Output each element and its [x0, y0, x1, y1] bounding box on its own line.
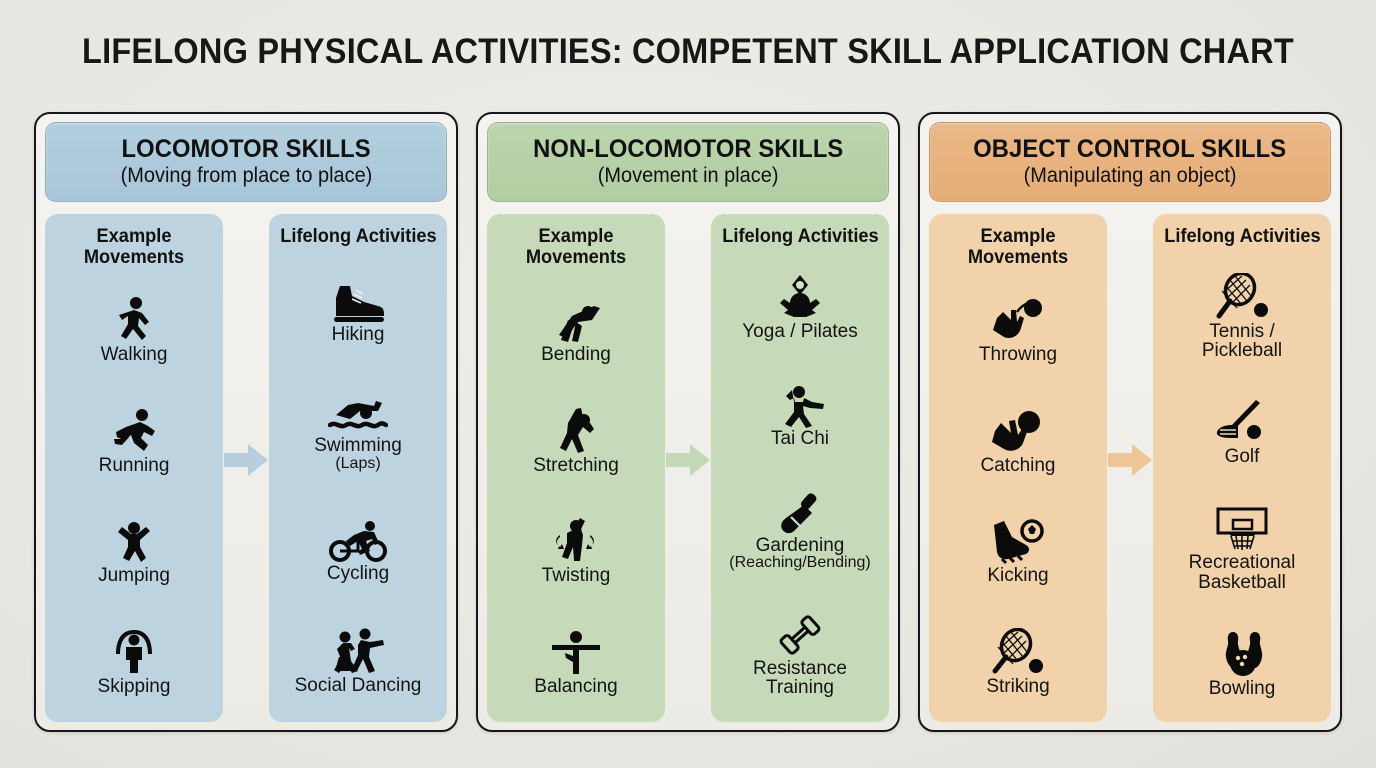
items-list: Walking Running Jumping: [49, 275, 219, 716]
kicking-foot-soccerball-icon: [988, 515, 1048, 565]
list-item-label: Running: [99, 456, 170, 476]
column-title: Lifelong Activities: [280, 226, 436, 247]
list-item-label: Stretching: [533, 456, 619, 476]
list-item-label: Social Dancing: [295, 676, 422, 696]
jump-rope-person-icon: [110, 626, 158, 676]
list-item-label: Balancing: [534, 677, 617, 697]
list-item: Bowling: [1157, 628, 1327, 699]
list-item-label: Yoga / Pilates: [742, 322, 858, 342]
list-item-label: Hiking: [332, 325, 385, 345]
list-item: Recreational Basketball: [1157, 502, 1327, 592]
list-item-label: Striking: [986, 677, 1049, 697]
balancing-person-icon: [548, 626, 604, 676]
chart-root: LIFELONG PHYSICAL ACTIVITIES: COMPETENT …: [0, 0, 1376, 768]
column-lifelong-activities: Lifelong Activities Tennis / Pickleball: [1153, 214, 1331, 722]
running-person-icon: [110, 405, 158, 455]
list-item: Tai Chi: [715, 378, 885, 449]
basketball-hoop-icon: [1211, 502, 1273, 552]
list-item-label: Jumping: [98, 566, 170, 586]
twisting-person-icon: [550, 515, 602, 565]
list-item: Bending: [491, 294, 661, 365]
bowling-ball-pins-icon: [1211, 628, 1273, 678]
column-example-movements: Example Movements Walking: [45, 214, 223, 722]
tai-chi-person-icon: [772, 378, 828, 428]
panel-header-object-control: OBJECT CONTROL SKILLS (Manipulating an o…: [929, 122, 1331, 202]
list-item: Catching: [933, 405, 1103, 476]
items-list: Bending Stretching Twist: [491, 275, 661, 716]
list-item: Cycling: [273, 513, 443, 584]
tennis-racket-icon: [1212, 271, 1272, 321]
list-item: Stretching: [491, 405, 661, 476]
column-title: Example Movements: [936, 226, 1099, 269]
column-lifelong-activities: Lifelong Activities Yoga / Pilates: [711, 214, 889, 722]
panels-row: LOCOMOTOR SKILLS (Moving from place to p…: [34, 112, 1342, 734]
list-item-label: Cycling: [327, 564, 389, 584]
list-item: Tennis / Pickleball: [1157, 271, 1327, 361]
list-item-sublabel: (Reaching/Bending): [729, 555, 870, 571]
dumbbell-icon: [775, 608, 825, 658]
list-item-label: Bending: [541, 345, 611, 365]
list-item: Skipping: [49, 626, 219, 697]
golf-club-ball-icon: [1212, 396, 1272, 446]
lotus-yoga-icon: [774, 271, 826, 321]
list-item: Throwing: [933, 294, 1103, 365]
column-title: Lifelong Activities: [1164, 226, 1320, 247]
list-item: Walking: [49, 294, 219, 365]
panel-non-locomotor: NON-LOCOMOTOR SKILLS (Movement in place)…: [476, 112, 900, 732]
list-item: Striking: [933, 626, 1103, 697]
list-item: Yoga / Pilates: [715, 271, 885, 342]
column-example-movements: Example Movements Throwing: [929, 214, 1107, 722]
column-title: Lifelong Activities: [722, 226, 878, 247]
stretching-person-icon: [550, 405, 602, 455]
column-lifelong-activities: Lifelong Activities Hiking: [269, 214, 447, 722]
list-item: Balancing: [491, 626, 661, 697]
panel-subtitle: (Movement in place): [598, 165, 779, 188]
list-item: Golf: [1157, 396, 1327, 467]
list-item-label: Throwing: [979, 345, 1057, 365]
jumping-person-icon: [110, 515, 158, 565]
list-item: Running: [49, 405, 219, 476]
list-item: Twisting: [491, 515, 661, 586]
list-item-label: Skipping: [98, 677, 171, 697]
list-item-label: Tai Chi: [771, 429, 829, 449]
panel-title: OBJECT CONTROL SKILLS: [974, 136, 1287, 163]
columns-non-locomotor: Example Movements Bending: [487, 214, 889, 722]
panel-title: NON-LOCOMOTOR SKILLS: [533, 136, 843, 163]
list-item-sublabel: (Laps): [314, 456, 402, 472]
panel-locomotor: LOCOMOTOR SKILLS (Moving from place to p…: [34, 112, 458, 732]
items-list: Throwing Catching Kickin: [933, 275, 1103, 716]
list-item-label: Bowling: [1209, 679, 1276, 699]
dancing-couple-icon: [325, 625, 391, 675]
columns-object-control: Example Movements Throwing: [929, 214, 1331, 722]
garden-trowel-icon: [774, 485, 826, 535]
list-item-label: Resistance Training: [753, 659, 847, 698]
column-title: Example Movements: [494, 226, 657, 269]
panel-subtitle: (Moving from place to place): [120, 165, 372, 188]
throwing-hand-ball-icon: [989, 294, 1047, 344]
list-item: Resistance Training: [715, 608, 885, 698]
bending-person-icon: [548, 294, 604, 344]
panel-subtitle: (Manipulating an object): [1024, 165, 1237, 188]
list-item: Social Dancing: [273, 625, 443, 696]
racket-ball-icon: [989, 626, 1047, 676]
panel-header-non-locomotor: NON-LOCOMOTOR SKILLS (Movement in place): [487, 122, 889, 202]
list-item: Gardening(Reaching/Bending): [715, 485, 885, 572]
list-item-label: Swimming(Laps): [314, 436, 402, 472]
list-item: Swimming(Laps): [273, 385, 443, 472]
columns-locomotor: Example Movements Walking: [45, 214, 447, 722]
hiking-boot-icon: [330, 274, 386, 324]
list-item-label: Walking: [101, 345, 168, 365]
panel-object-control: OBJECT CONTROL SKILLS (Manipulating an o…: [918, 112, 1342, 732]
right-arrow-icon: [666, 442, 710, 478]
list-item-label: Kicking: [987, 566, 1048, 586]
list-item-label: Recreational Basketball: [1189, 553, 1296, 592]
right-arrow-icon: [224, 442, 268, 478]
bicycle-icon: [328, 513, 388, 563]
list-item-label: Catching: [981, 456, 1056, 476]
right-arrow-icon: [1108, 442, 1152, 478]
list-item-label: Twisting: [542, 566, 611, 586]
items-list: Yoga / Pilates Tai Chi G: [715, 253, 885, 716]
list-item: Jumping: [49, 515, 219, 586]
list-item-label: Gardening(Reaching/Bending): [729, 536, 870, 572]
panel-title: LOCOMOTOR SKILLS: [121, 136, 370, 163]
catching-hand-ball-icon: [989, 405, 1047, 455]
page-title: LIFELONG PHYSICAL ACTIVITIES: COMPETENT …: [48, 32, 1328, 72]
swimmer-icon: [328, 385, 388, 435]
column-title: Example Movements: [52, 226, 215, 269]
column-example-movements: Example Movements Bending: [487, 214, 665, 722]
list-item: Hiking: [273, 274, 443, 345]
list-item-label: Golf: [1225, 447, 1260, 467]
panel-header-locomotor: LOCOMOTOR SKILLS (Moving from place to p…: [45, 122, 447, 202]
items-list: Tennis / Pickleball Golf: [1157, 253, 1327, 716]
list-item-label: Tennis / Pickleball: [1202, 322, 1282, 361]
list-item: Kicking: [933, 515, 1103, 586]
items-list: Hiking Swimming(Laps) Cy: [273, 253, 443, 716]
walking-person-icon: [112, 294, 156, 344]
